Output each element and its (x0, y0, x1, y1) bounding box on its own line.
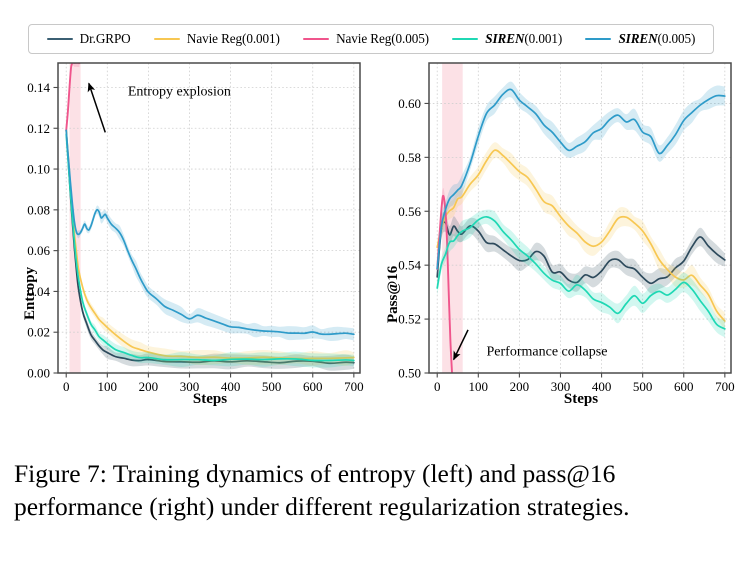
entropy-plot: 01002003004005006007000.000.020.040.060.… (0, 55, 371, 420)
svg-text:0.10: 0.10 (27, 162, 50, 177)
legend-item-label: SIREN(0.005) (618, 31, 695, 47)
pass16-x-axis-label: Steps (431, 391, 731, 408)
legend-item-3[interactable]: SIREN(0.001) (452, 31, 562, 47)
legend-item-0[interactable]: Dr.GRPO (47, 31, 131, 47)
svg-text:0.08: 0.08 (27, 202, 50, 217)
svg-text:0.56: 0.56 (398, 204, 421, 219)
legend-item-label: Dr.GRPO (80, 31, 131, 47)
figure-caption: Figure 7: Training dynamics of entropy (… (14, 458, 730, 524)
svg-text:0.06: 0.06 (27, 243, 50, 258)
svg-text:0.02: 0.02 (27, 325, 50, 340)
entropy-y-axis-label: Entropy (22, 267, 39, 320)
svg-text:0.58: 0.58 (398, 150, 421, 165)
legend-item-label: Navie Reg(0.005) (336, 31, 429, 47)
svg-text:0.00: 0.00 (27, 366, 50, 381)
annotation-label: Entropy explosion (128, 85, 231, 100)
pass16-plot: 01002003004005006007000.500.520.540.560.… (371, 55, 742, 420)
legend-line-swatch (585, 38, 611, 41)
legend-line-swatch (47, 38, 73, 41)
legend-line-swatch (303, 38, 329, 41)
legend-item-label: Navie Reg(0.001) (187, 31, 280, 47)
svg-text:0.50: 0.50 (398, 366, 421, 381)
figure-7: Dr.GRPONavie Reg(0.001)Navie Reg(0.005)S… (0, 0, 742, 584)
annotation-label: Performance collapse (487, 344, 608, 359)
entropy-panel: Entropy 01002003004005006007000.000.020.… (0, 55, 371, 420)
legend-item-1[interactable]: Navie Reg(0.001) (154, 31, 280, 47)
legend-line-swatch (154, 38, 180, 41)
legend-line-swatch (452, 38, 478, 41)
legend-item-2[interactable]: Navie Reg(0.005) (303, 31, 429, 47)
svg-text:0.14: 0.14 (27, 80, 50, 95)
legend-item-label: SIREN(0.001) (485, 31, 562, 47)
chart-legend: Dr.GRPONavie Reg(0.001)Navie Reg(0.005)S… (28, 24, 714, 54)
svg-text:0.60: 0.60 (398, 96, 421, 111)
pass16-panel: Pass@16 01002003004005006007000.500.520.… (371, 55, 742, 420)
legend-item-4[interactable]: SIREN(0.005) (585, 31, 695, 47)
svg-text:0.12: 0.12 (27, 121, 50, 136)
entropy-x-axis-label: Steps (60, 391, 360, 408)
pass16-y-axis-label: Pass@16 (385, 266, 402, 323)
